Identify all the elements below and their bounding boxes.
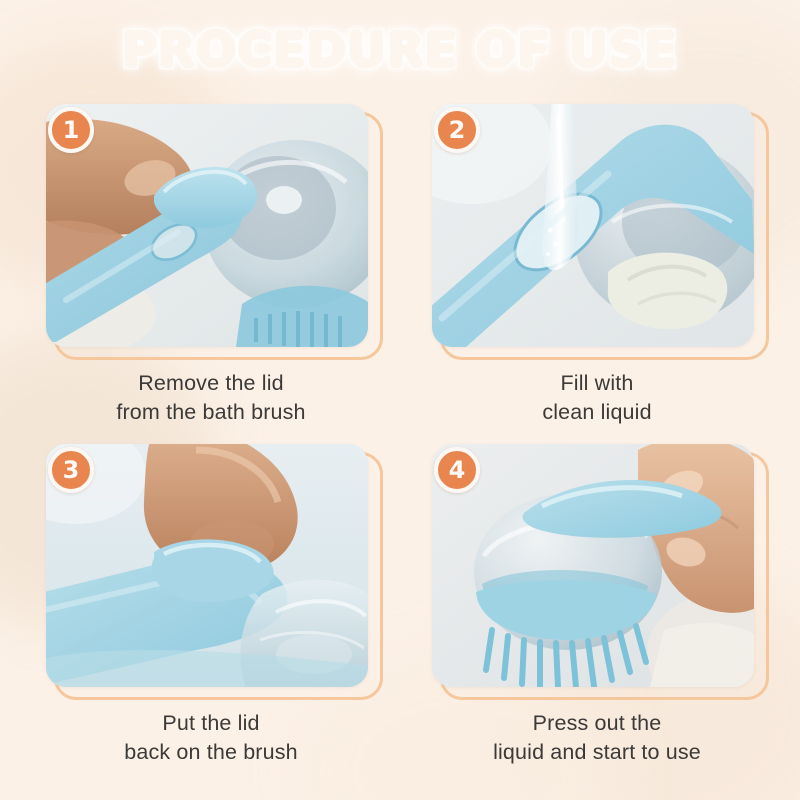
- step-caption-1-line2: from the bath brush: [46, 398, 376, 427]
- photo-frame-3: 3: [46, 444, 376, 693]
- step-photo-1: [46, 104, 368, 347]
- step-badge-3: 3: [48, 447, 94, 493]
- step-badge-4: 4: [434, 447, 480, 493]
- step-caption-4-line2: liquid and start to use: [432, 738, 762, 767]
- step-caption-2-line2: clean liquid: [432, 398, 762, 427]
- photo-frame-1: 1: [46, 104, 376, 353]
- step-card-2: 2 Fill with clean liquid: [432, 104, 762, 426]
- step-photo-3: [46, 444, 368, 687]
- step-card-4: 4 Press out the liquid and start to use: [432, 444, 762, 766]
- procedure-steps-grid: 1 Remove the lid from the bath brush: [46, 104, 762, 766]
- page-title-container: PROCEDURE OF USE PROCEDURE OF USE: [0, 26, 800, 75]
- step-photo-2: [432, 104, 754, 347]
- step-caption-2-line1: Fill with: [432, 369, 762, 398]
- step-caption-3: Put the lid back on the brush: [46, 709, 376, 766]
- step-badge-1: 1: [48, 107, 94, 153]
- step-caption-2: Fill with clean liquid: [432, 369, 762, 426]
- step-caption-1: Remove the lid from the bath brush: [46, 369, 376, 426]
- photo-frame-4: 4: [432, 444, 762, 693]
- step-card-1: 1 Remove the lid from the bath brush: [46, 104, 376, 426]
- step-card-3: 3 Put the lid back on the brush: [46, 444, 376, 766]
- title-stack: PROCEDURE OF USE PROCEDURE OF USE: [122, 26, 678, 75]
- step-caption-4-line1: Press out the: [432, 709, 762, 738]
- step-badge-2: 2: [434, 107, 480, 153]
- page-title: PROCEDURE OF USE: [122, 26, 678, 75]
- step-caption-3-line2: back on the brush: [46, 738, 376, 767]
- step-caption-4: Press out the liquid and start to use: [432, 709, 762, 766]
- photo-frame-2: 2: [432, 104, 762, 353]
- step-caption-1-line1: Remove the lid: [46, 369, 376, 398]
- step-photo-4: [432, 444, 754, 687]
- step-caption-3-line1: Put the lid: [46, 709, 376, 738]
